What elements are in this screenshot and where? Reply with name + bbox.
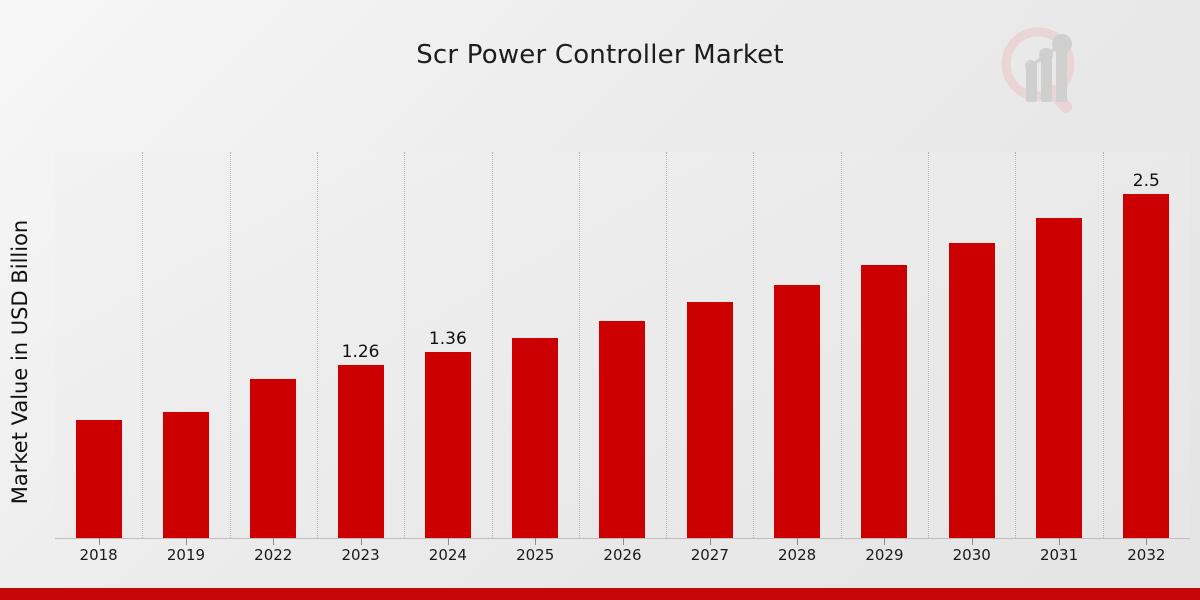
bar-2026[interactable] xyxy=(598,320,646,538)
bar-value-label-2032: 2.5 xyxy=(1133,171,1160,191)
x-tick-label-2018: 2018 xyxy=(55,546,143,564)
market-research-logo xyxy=(996,22,1092,118)
plot-area: 1.261.362.5 xyxy=(55,152,1190,538)
bar-slot xyxy=(928,152,1015,538)
x-tick-label-2022: 2022 xyxy=(229,546,317,564)
bar-2028[interactable] xyxy=(773,284,821,538)
bar-2023[interactable]: 1.26 xyxy=(337,364,385,538)
bar-slot: 2.5 xyxy=(1103,152,1190,538)
x-axis-tick xyxy=(972,538,973,545)
x-axis-tick xyxy=(186,538,187,545)
bar-value-label-2023: 1.26 xyxy=(342,342,380,362)
magnifier-bar-chart-icon xyxy=(996,22,1092,118)
y-axis-label: Market Value in USD Billion xyxy=(8,152,32,572)
bar-slot xyxy=(55,152,142,538)
bar-2032[interactable]: 2.5 xyxy=(1122,193,1170,538)
bar-2018[interactable] xyxy=(75,419,123,538)
bar-2029[interactable] xyxy=(860,264,908,538)
bar-2025[interactable] xyxy=(511,337,559,538)
bar-slot xyxy=(579,152,666,538)
x-tick-label-2025: 2025 xyxy=(491,546,579,564)
bar-2022[interactable] xyxy=(249,378,297,538)
bar-2030[interactable] xyxy=(948,242,996,538)
x-axis-tick xyxy=(535,538,536,545)
x-tick-label-2024: 2024 xyxy=(404,546,492,564)
x-axis-tick xyxy=(273,538,274,545)
bar-slot xyxy=(230,152,317,538)
bar-slot xyxy=(1015,152,1102,538)
x-tick-label-2027: 2027 xyxy=(666,546,754,564)
bar-slot: 1.36 xyxy=(404,152,491,538)
x-tick-label-2029: 2029 xyxy=(840,546,928,564)
bar-slot xyxy=(753,152,840,538)
x-tick-label-2030: 2030 xyxy=(928,546,1016,564)
x-tick-label-2032: 2032 xyxy=(1102,546,1190,564)
x-axis-tick xyxy=(1059,538,1060,545)
bar-slot xyxy=(142,152,229,538)
x-axis-tick xyxy=(361,538,362,545)
x-tick-label-2031: 2031 xyxy=(1015,546,1103,564)
x-axis-tick xyxy=(448,538,449,545)
bar-2024[interactable]: 1.36 xyxy=(424,351,472,538)
footer-accent-bar xyxy=(0,588,1200,600)
x-tick-label-2026: 2026 xyxy=(579,546,667,564)
bar-slot xyxy=(666,152,753,538)
bar-slot xyxy=(841,152,928,538)
x-tick-label-2023: 2023 xyxy=(317,546,405,564)
x-tick-label-2019: 2019 xyxy=(142,546,230,564)
bar-value-label-2024: 1.36 xyxy=(429,329,467,349)
chart-page: Scr Power Controller Market Market Value… xyxy=(0,0,1200,600)
bar-2031[interactable] xyxy=(1035,217,1083,538)
bar-2027[interactable] xyxy=(686,301,734,538)
x-axis-tick xyxy=(884,538,885,545)
x-axis-tick xyxy=(1146,538,1147,545)
x-axis-tick xyxy=(99,538,100,545)
bar-slot: 1.26 xyxy=(317,152,404,538)
bar-slot xyxy=(492,152,579,538)
x-axis-tick xyxy=(623,538,624,545)
x-tick-label-2028: 2028 xyxy=(753,546,841,564)
x-axis-tick xyxy=(797,538,798,545)
bar-2019[interactable] xyxy=(162,411,210,538)
x-axis-tick xyxy=(710,538,711,545)
